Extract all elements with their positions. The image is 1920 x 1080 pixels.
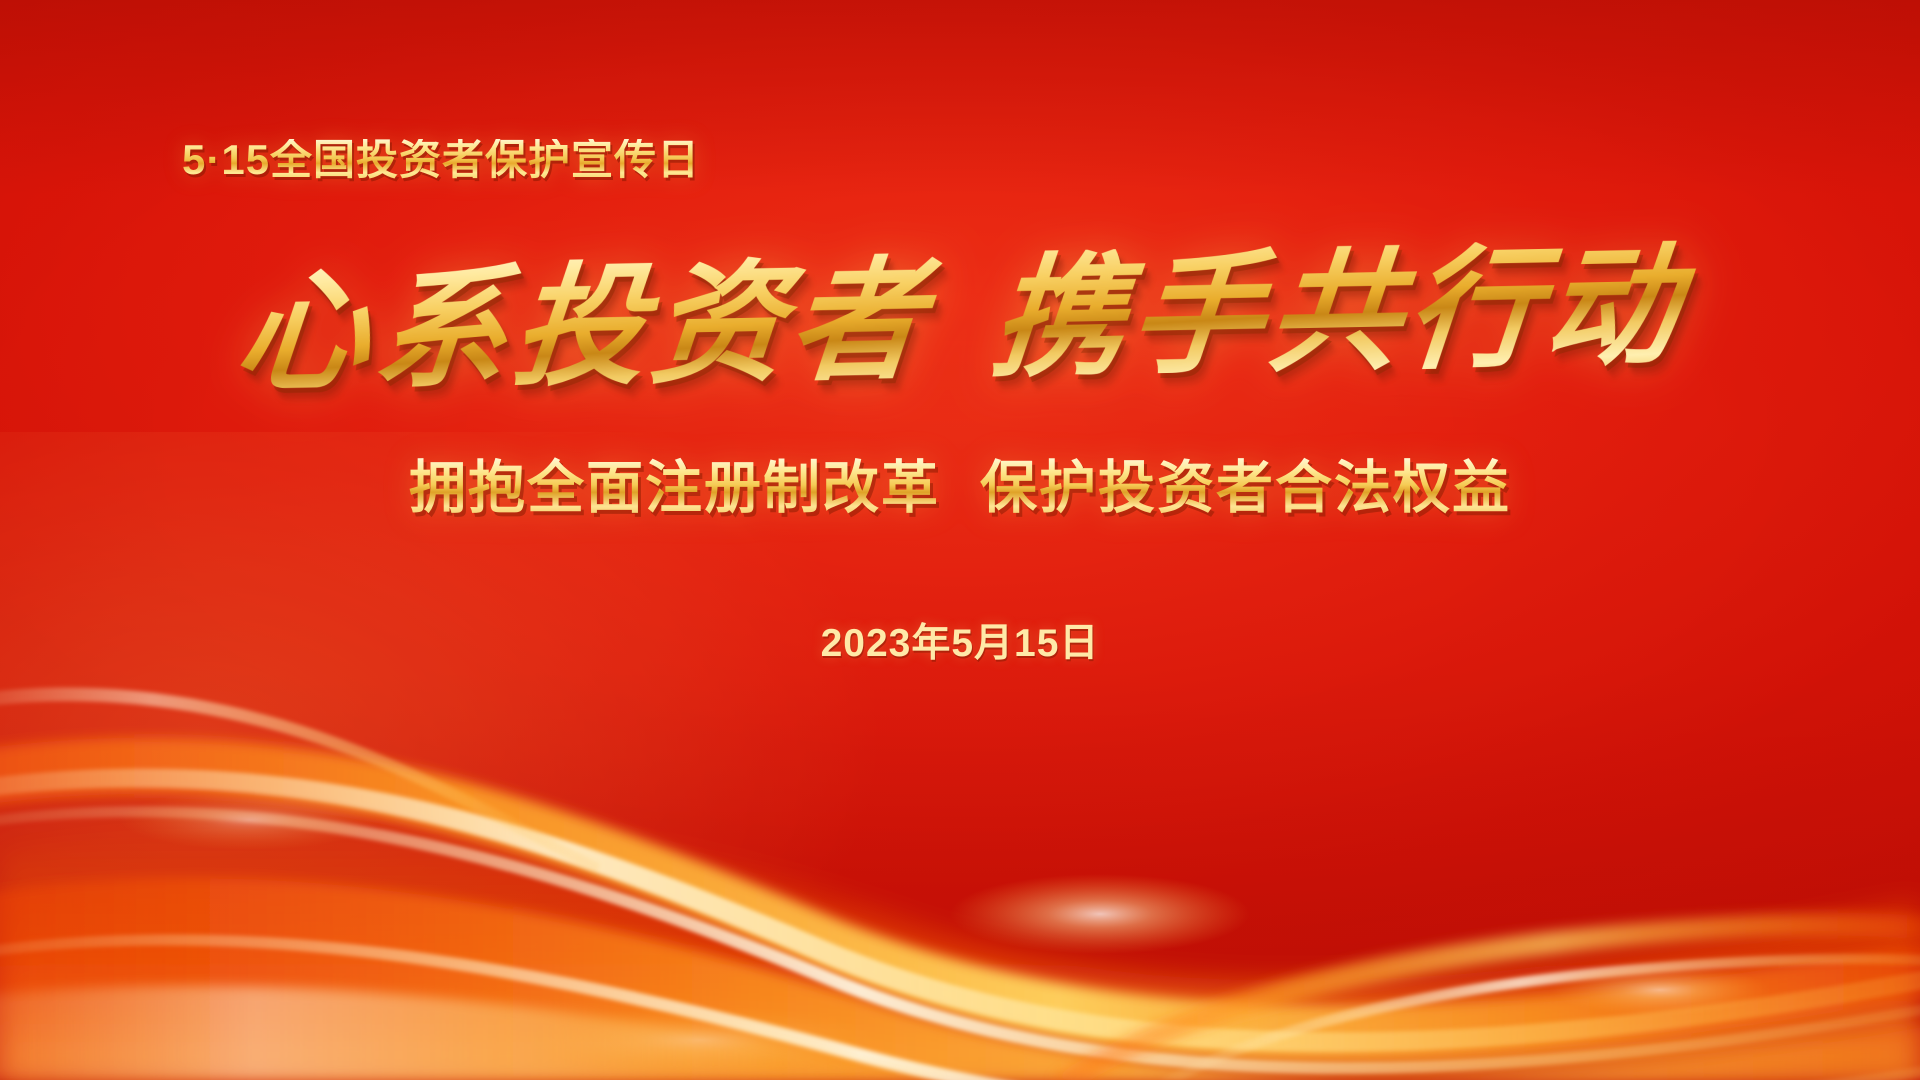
main-headline: 心系投资者携手共行动: [0, 234, 1920, 409]
sub-tagline: 拥抱全面注册制改革保护投资者合法权益: [0, 457, 1920, 520]
event-date: 2023年5月15日: [0, 612, 1920, 668]
banner-text-block: 5·15全国投资者保护宣传日 心系投资者携手共行动 拥抱全面注册制改革保护投资者…: [0, 0, 1920, 1080]
headline-spacer: [924, 364, 988, 365]
banner-canvas: 5·15全国投资者保护宣传日 心系投资者携手共行动 拥抱全面注册制改革保护投资者…: [0, 0, 1920, 1080]
event-eyebrow-title: 5·15全国投资者保护宣传日: [182, 139, 700, 181]
tagline-left: 拥抱全面注册制改革: [409, 456, 940, 520]
headline-left: 心系投资者: [230, 248, 934, 408]
headline-right: 携手共行动: [986, 233, 1690, 393]
tagline-right: 保护投资者合法权益: [980, 456, 1511, 520]
